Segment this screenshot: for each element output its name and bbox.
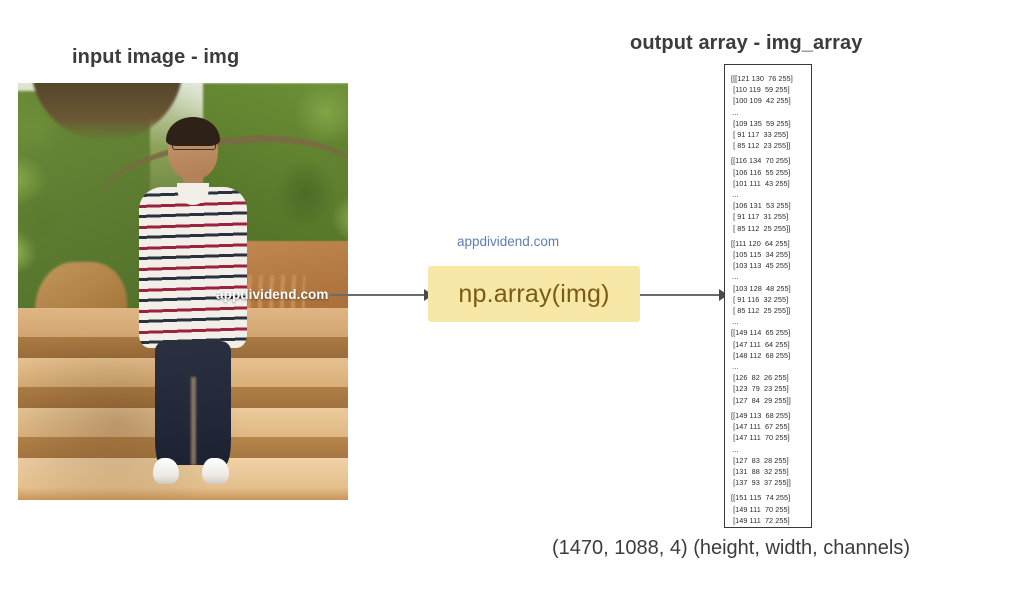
array-row: [[151 115 74 255] (731, 492, 811, 503)
array-row: [[116 134 70 255] (731, 155, 811, 166)
site-watermark: appdividend.com (457, 234, 559, 249)
array-ellipsis: ... (731, 107, 811, 118)
input-photo: appdividend.com (18, 83, 348, 500)
output-array-box: [[[121 130 76 255] [110 119 59 255] [100… (724, 64, 812, 528)
array-row: [[149 114 65 255] (731, 327, 811, 338)
array-row: [[111 120 64 255] (731, 238, 811, 249)
array-ellipsis: ... (731, 271, 811, 282)
array-row: [127 83 28 255] (731, 455, 811, 466)
person-pant-gap (191, 377, 197, 465)
array-row: [[[121 130 76 255] (731, 73, 811, 84)
arrow-input-to-operation (330, 294, 430, 296)
person-striped-shirt (139, 187, 247, 348)
array-row: [147 111 70 255] (731, 432, 811, 443)
array-ellipsis: ... (731, 316, 811, 327)
array-row: [105 115 34 255] (731, 249, 811, 260)
array-row: [[149 113 68 255] (731, 410, 811, 421)
array-ellipsis: ... (731, 444, 811, 455)
person-shoe-left (153, 458, 180, 484)
array-row: [ 91 117 33 255] (731, 129, 811, 140)
array-row: [110 119 59 255] (731, 84, 811, 95)
photo-watermark: appdividend.com (216, 287, 329, 302)
array-row: [ 85 112 23 255]] (731, 140, 811, 151)
array-row: [ 91 117 31 255] (731, 211, 811, 222)
array-ellipsis: ... (731, 526, 811, 528)
array-row: [148 112 68 255] (731, 350, 811, 361)
array-row: [ 91 116 32 255] (731, 294, 811, 305)
array-ellipsis: ... (731, 189, 811, 200)
array-row: [100 109 42 255] (731, 95, 811, 106)
array-ellipsis: ... (731, 361, 811, 372)
array-row: [ 85 112 25 255]] (731, 223, 811, 234)
operation-box: np.array(img) (428, 266, 640, 322)
array-row: [109 135 59 255] (731, 118, 811, 129)
array-row: [ 85 112 25 255]] (731, 305, 811, 316)
arrow-operation-to-output (640, 294, 728, 296)
array-row: [103 113 45 255] (731, 260, 811, 271)
person-glasses (172, 140, 217, 150)
array-row: [103 128 48 255] (731, 283, 811, 294)
array-row: [106 131 53 255] (731, 200, 811, 211)
array-row: [131 88 32 255] (731, 466, 811, 477)
array-row: [106 116 55 255] (731, 167, 811, 178)
input-image-title: input image - img (72, 46, 239, 69)
array-row: [127 84 29 255]] (731, 395, 811, 406)
array-row: [147 111 64 255] (731, 339, 811, 350)
operation-label: np.array(img) (458, 280, 609, 309)
person-shoe-right (202, 458, 229, 484)
shape-caption: (1470, 1088, 4) (height, width, channels… (552, 537, 910, 560)
array-row: [123 79 23 255] (731, 383, 811, 394)
array-row: [149 111 70 255] (731, 504, 811, 515)
photo-person (137, 121, 249, 488)
array-row: [149 111 72 255] (731, 515, 811, 526)
array-row: [101 111 43 255] (731, 178, 811, 189)
array-row: [137 93 37 255]] (731, 477, 811, 488)
output-array-title: output array - img_array (630, 32, 862, 55)
array-row: [126 82 26 255] (731, 372, 811, 383)
array-row: [147 111 67 255] (731, 421, 811, 432)
